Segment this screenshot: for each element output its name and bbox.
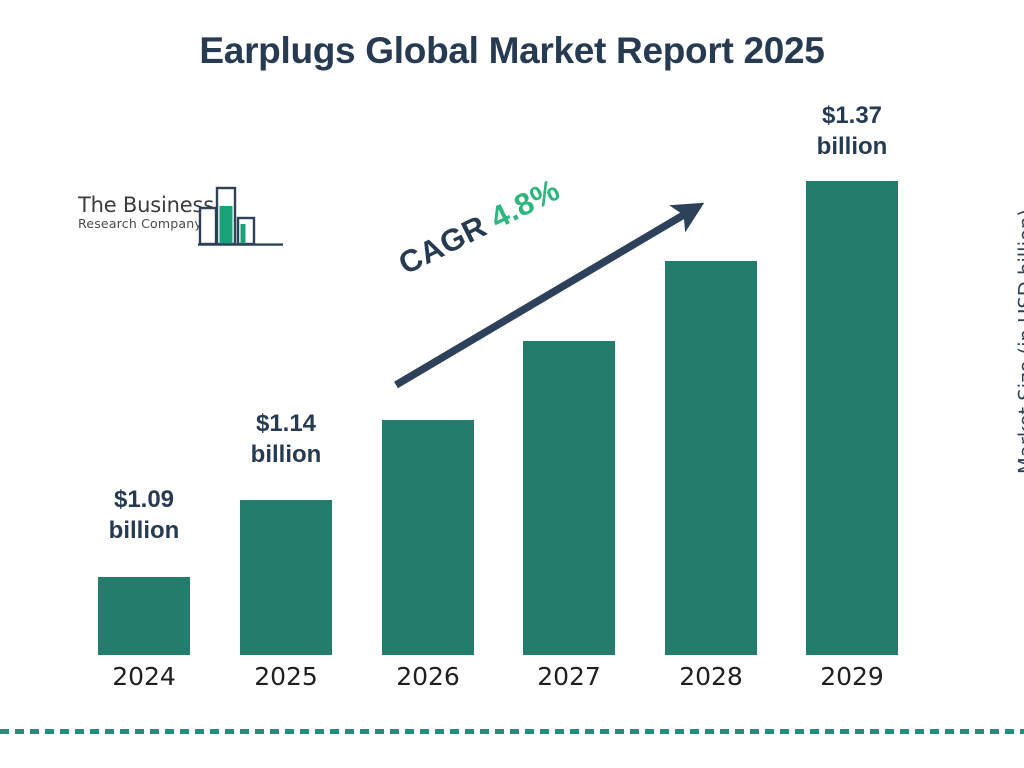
- bar-2029: [806, 181, 898, 655]
- x-tick-2026: 2026: [348, 662, 508, 691]
- cagr-value: 4.8%: [485, 172, 566, 236]
- bar-value-2029: $1.37 billion: [772, 101, 932, 162]
- bottom-divider: [0, 729, 1024, 734]
- x-tick-2029: 2029: [772, 662, 932, 691]
- bar-value-2025: $1.14 billion: [206, 409, 366, 470]
- bar-2025: [240, 500, 332, 655]
- x-tick-2028: 2028: [631, 662, 791, 691]
- y-axis-title: Market Size (in USD billion): [1015, 182, 1024, 502]
- cagr-annotation: CAGR 4.8%: [393, 172, 566, 282]
- plot-area: $1.09 billion $1.14 billion $1.37 billio…: [0, 0, 1024, 768]
- bar-2028: [665, 261, 757, 655]
- cagr-label: CAGR: [393, 208, 492, 281]
- bar-2026: [382, 420, 474, 655]
- bar-value-2024: $1.09 billion: [64, 485, 224, 546]
- chart-page: Earplugs Global Market Report 2025 The B…: [0, 0, 1024, 768]
- bar-2027: [523, 341, 615, 655]
- bar-2024: [98, 577, 190, 655]
- x-tick-2027: 2027: [489, 662, 649, 691]
- x-tick-2024: 2024: [64, 662, 224, 691]
- x-tick-2025: 2025: [206, 662, 366, 691]
